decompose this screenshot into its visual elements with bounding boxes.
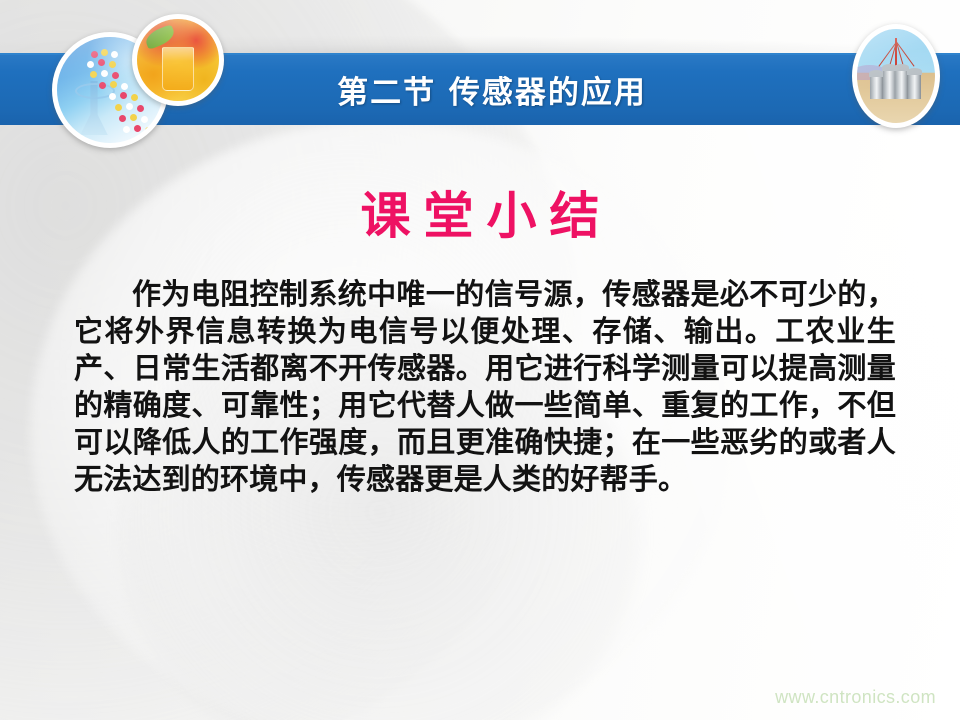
- lesson-summary-heading: 课堂小结: [0, 176, 960, 248]
- silo-shape: [870, 75, 883, 99]
- fruit-juice-icon: [132, 14, 224, 106]
- slide-canvas: 第二节 传感器的应用: [0, 0, 960, 720]
- grain-silo-icon: [852, 24, 940, 128]
- site-watermark: www.cntronics.com: [775, 687, 936, 708]
- silo-shape: [908, 73, 921, 99]
- grain-silo-image: [857, 29, 935, 123]
- juice-glass-shape: [162, 47, 194, 91]
- silo-shape: [883, 69, 896, 99]
- lesson-summary-paragraph: 作为电阻控制系统中唯一的信号源，传感器是必不可少的，它将外界信息转换为电信号以便…: [74, 276, 896, 498]
- fruit-juice-image: [137, 19, 219, 101]
